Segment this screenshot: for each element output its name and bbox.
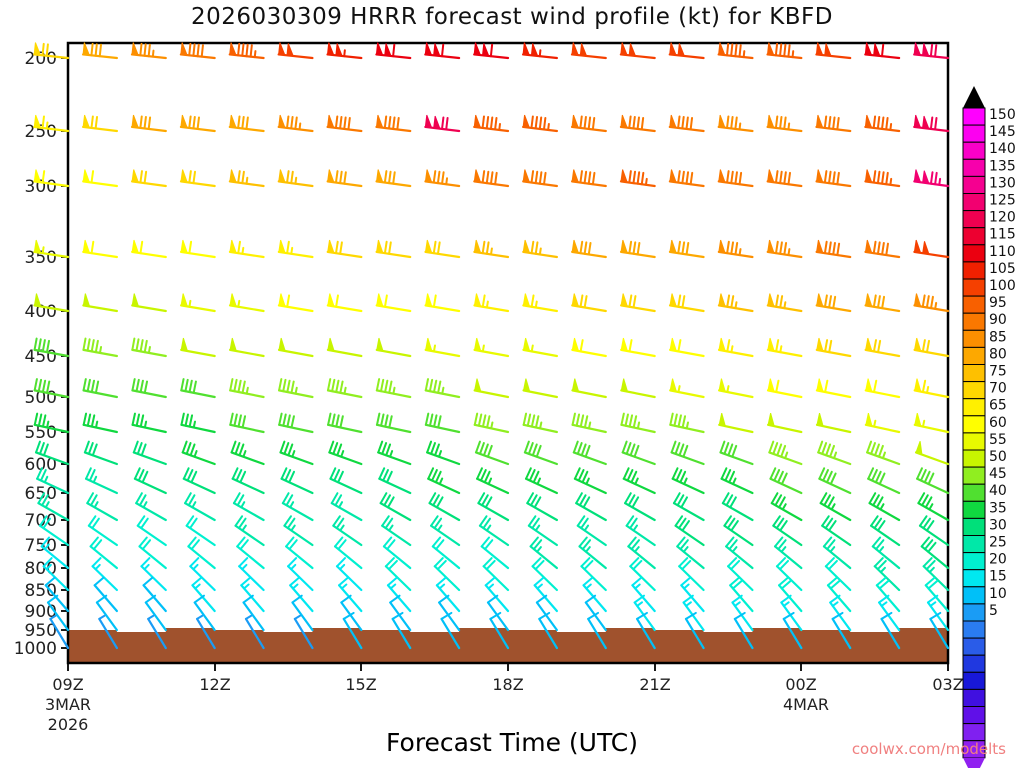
wind-barb <box>279 43 313 58</box>
wind-barb <box>572 294 606 311</box>
colorbar-tick-label: 35 <box>989 500 1007 516</box>
colorbar-swatch <box>963 330 985 347</box>
colorbar-swatch <box>963 604 985 621</box>
wind-barb <box>234 493 264 520</box>
wind-barb <box>181 43 215 58</box>
wind-barb <box>915 338 948 356</box>
wind-barb <box>719 43 753 58</box>
wind-barb <box>719 240 753 257</box>
wind-barb <box>719 294 753 311</box>
wind-barb <box>426 414 459 432</box>
x-axis-label: 00Z <box>785 675 816 694</box>
wind-barb <box>523 338 556 356</box>
wind-barb <box>865 115 899 131</box>
wind-barb <box>486 578 508 611</box>
wind-barb <box>376 43 410 58</box>
wind-barb <box>192 578 214 611</box>
colorbar-tick-label: 40 <box>989 483 1007 499</box>
wind-barb <box>525 442 557 464</box>
wind-barb <box>535 578 557 611</box>
wind-barb <box>181 115 215 131</box>
colorbar-tick-label: 135 <box>989 158 1016 174</box>
wind-barb <box>476 442 508 464</box>
wind-barb <box>279 379 312 397</box>
wind-barb <box>674 493 704 520</box>
wind-barb <box>865 170 899 186</box>
colorbar-tick-label: 25 <box>989 535 1007 551</box>
wind-barb <box>719 170 753 186</box>
wind-barb <box>333 516 361 545</box>
wind-barb <box>430 493 460 520</box>
wind-barb <box>918 493 948 520</box>
wind-barb <box>284 516 312 545</box>
colorbar-swatch <box>963 228 985 245</box>
colorbar-tick-label: 60 <box>989 415 1007 431</box>
wind-barb <box>230 294 264 311</box>
wind-barb <box>816 115 850 131</box>
wind-barb <box>670 240 704 257</box>
wind-barb <box>132 43 166 58</box>
wind-barb <box>670 338 703 356</box>
wind-barb <box>474 115 508 131</box>
wind-barb <box>332 493 362 520</box>
wind-barb <box>279 170 313 186</box>
wind-barb <box>915 413 948 432</box>
wind-barb <box>474 240 508 257</box>
wind-barb <box>817 413 850 432</box>
terrain-fill <box>68 628 948 663</box>
x-axis-label: 21Z <box>639 675 670 694</box>
colorbar-tick-label: 140 <box>989 141 1016 157</box>
wind-barb <box>768 379 801 397</box>
colorbar-swatch <box>963 245 985 262</box>
wind-barb <box>184 468 215 493</box>
wind-barb <box>779 578 801 611</box>
wind-barb <box>772 493 802 520</box>
colorbar-swatch <box>963 707 985 724</box>
wind-barb <box>477 468 508 493</box>
wind-barb <box>230 379 263 397</box>
wind-barb <box>670 379 703 397</box>
wind-barb <box>328 43 362 58</box>
wind-barb <box>870 493 900 520</box>
wind-barb <box>83 240 117 257</box>
wind-barb <box>474 43 508 58</box>
wind-barb <box>478 493 508 520</box>
wind-barb <box>627 516 655 545</box>
wind-barb <box>181 414 214 432</box>
wind-barb <box>377 379 410 397</box>
wind-barb <box>290 578 312 611</box>
wind-barb <box>183 442 215 464</box>
wind-barb <box>426 294 460 311</box>
colorbar-tick-label: 150 <box>989 107 1016 123</box>
wind-barb <box>817 379 850 397</box>
wind-barb <box>280 442 312 464</box>
wind-barb <box>523 170 557 186</box>
wind-barb <box>136 493 166 520</box>
wind-barb <box>181 338 214 356</box>
colorbar-swatch <box>963 108 985 125</box>
colorbar-tick-label: 75 <box>989 364 1007 380</box>
wind-barb <box>282 468 313 493</box>
wind-barb <box>328 115 362 131</box>
colorbar-swatch <box>963 570 985 587</box>
wind-barb <box>181 294 215 311</box>
wind-barb <box>817 294 851 311</box>
wind-barb <box>572 115 606 131</box>
wind-barb <box>523 294 557 311</box>
wind-barb <box>770 468 801 493</box>
wind-barb <box>914 170 948 186</box>
wind-barb <box>279 240 313 257</box>
wind-barb <box>132 294 166 311</box>
wind-barb <box>572 43 606 58</box>
x-axis-label: 09Z <box>52 675 83 694</box>
wind-barb <box>914 43 948 58</box>
wind-barb <box>865 240 899 257</box>
x-axis-date-start: 3MAR <box>45 695 91 714</box>
colorbar-swatch <box>963 433 985 450</box>
wind-barb <box>279 414 312 432</box>
wind-barb <box>425 115 459 131</box>
y-axis-label: 250 <box>25 122 57 142</box>
wind-barb <box>926 578 948 611</box>
colorbar-tick-label: 55 <box>989 432 1007 448</box>
wind-barb <box>572 379 605 397</box>
wind-barb <box>673 468 704 493</box>
wind-barb <box>818 442 850 464</box>
colorbar-tick-label: 30 <box>989 517 1007 533</box>
wind-barb <box>84 414 117 432</box>
colorbar-swatch <box>963 484 985 501</box>
wind-barb <box>914 115 948 131</box>
colorbar-swatch <box>963 621 985 638</box>
wind-barb <box>339 578 361 611</box>
wind-barb <box>377 240 411 257</box>
wind-barb <box>822 516 850 545</box>
wind-barb <box>133 414 166 432</box>
colorbar-tick-label: 20 <box>989 552 1007 568</box>
wind-barb <box>475 379 508 397</box>
wind-barb <box>624 468 655 493</box>
colorbar-tick-label: 95 <box>989 295 1007 311</box>
plot-canvas: 2002503003504004505005506006507007508008… <box>0 0 1024 768</box>
wind-barb <box>83 115 117 131</box>
wind-barb <box>670 294 704 311</box>
colorbar-swatch <box>963 159 985 176</box>
wind-barb <box>572 338 605 356</box>
wind-barb <box>132 240 166 257</box>
wind-barb <box>719 115 753 131</box>
wind-barb <box>877 578 899 611</box>
wind-barb <box>230 338 263 356</box>
wind-barb <box>377 170 411 186</box>
wind-barb <box>83 294 117 311</box>
colorbar-swatch <box>963 638 985 655</box>
wind-barb <box>817 240 851 257</box>
wind-barb <box>621 240 655 257</box>
wind-barb <box>425 240 459 257</box>
colorbar-swatch <box>963 279 985 296</box>
wind-barb <box>84 379 117 397</box>
wind-barb <box>95 578 117 611</box>
colorbar-tick-label: 50 <box>989 449 1007 465</box>
wind-barb <box>89 516 117 545</box>
y-axis-label: 700 <box>25 511 57 531</box>
wind-barb <box>670 115 704 131</box>
wind-barb <box>866 338 899 356</box>
colorbar-swatch <box>963 142 985 159</box>
wind-barb <box>87 493 117 520</box>
wind-barb <box>425 43 459 58</box>
wind-barb <box>425 170 459 186</box>
wind-barb <box>916 441 948 464</box>
wind-barb <box>769 442 801 464</box>
wind-barb <box>670 170 704 186</box>
colorbar-swatch <box>963 450 985 467</box>
wind-barb <box>83 43 117 58</box>
wind-barb <box>720 442 752 464</box>
wind-barb <box>529 516 557 545</box>
wind-barb <box>83 339 116 356</box>
colorbar-swatch <box>963 399 985 416</box>
colorbar-swatch <box>963 518 985 535</box>
colorbar-arrow-top <box>963 86 985 108</box>
wind-barb <box>773 516 801 545</box>
wind-barb <box>670 414 703 432</box>
wind-barb <box>676 516 704 545</box>
wind-barb <box>85 442 117 464</box>
colorbar-tick-label: 125 <box>989 193 1016 209</box>
colorbar-swatch <box>963 501 985 518</box>
wind-barb <box>670 43 704 58</box>
colorbar-tick-label: 15 <box>989 569 1007 585</box>
wind-barb <box>625 493 655 520</box>
wind-barb <box>230 115 264 131</box>
wind-barb <box>381 493 411 520</box>
colorbar-swatch <box>963 553 985 570</box>
colorbar-swatch <box>963 176 985 193</box>
wind-barb <box>574 442 606 464</box>
colorbar-swatch <box>963 536 985 553</box>
wind-barb <box>328 240 362 257</box>
y-axis-label: 400 <box>25 302 57 322</box>
y-axis-label: 950 <box>25 621 57 641</box>
wind-barb <box>632 578 654 611</box>
wind-barb <box>181 379 214 397</box>
wind-barb <box>135 468 166 493</box>
wind-barb <box>681 578 703 611</box>
wind-barb <box>474 170 508 186</box>
wind-barb <box>232 442 264 464</box>
colorbar-tick-label: 5 <box>989 603 998 619</box>
wind-barb <box>241 578 263 611</box>
wind-barb <box>821 493 851 520</box>
wind-barb <box>526 468 557 493</box>
wind-barb <box>378 442 410 464</box>
wind-barb <box>328 338 361 356</box>
colorbar-swatch <box>963 467 985 484</box>
wind-barb <box>474 294 508 311</box>
colorbar-tick-label: 115 <box>989 227 1016 243</box>
wind-barb <box>132 170 166 186</box>
colorbar-tick-label: 145 <box>989 124 1016 140</box>
wind-barb <box>431 516 459 545</box>
colorbar-swatch <box>963 672 985 689</box>
colorbar-tick-label: 80 <box>989 346 1007 362</box>
wind-barb <box>236 516 264 545</box>
wind-barb <box>187 516 215 545</box>
colorbar-tick-label: 65 <box>989 398 1007 414</box>
wind-barb <box>132 115 166 131</box>
wind-barb <box>181 170 215 186</box>
wind-barb <box>915 379 948 397</box>
wind-barb <box>576 493 606 520</box>
wind-barb <box>138 516 166 545</box>
colorbar-tick-label: 85 <box>989 329 1007 345</box>
wind-barb <box>868 468 899 493</box>
colorbar-swatch <box>963 416 985 433</box>
wind-barb <box>230 414 263 432</box>
wind-barb <box>621 379 654 397</box>
colorbar-tick-label: 120 <box>989 210 1016 226</box>
wind-barb <box>523 115 557 131</box>
wind-barb <box>584 578 606 611</box>
wind-barb <box>621 170 655 186</box>
wind-barb <box>867 442 899 464</box>
wind-barb <box>768 115 802 131</box>
wind-barb <box>377 414 410 432</box>
wind-barb <box>388 578 410 611</box>
wind-barb <box>914 240 948 257</box>
wind-barb <box>523 240 557 257</box>
wind-barb <box>329 442 361 464</box>
wind-barb <box>181 240 215 257</box>
colorbar-swatch <box>963 365 985 382</box>
wind-barb <box>328 294 362 311</box>
wind-barb <box>719 413 752 432</box>
wind-barb <box>475 338 508 356</box>
wind-barb <box>768 170 802 186</box>
wind-barb <box>524 414 557 432</box>
wind-barb <box>524 379 557 397</box>
wind-barb <box>672 442 704 464</box>
colorbar-swatch <box>963 125 985 142</box>
wind-barb <box>621 338 654 356</box>
wind-barb <box>621 294 655 311</box>
wind-barb <box>724 516 752 545</box>
wind-barb <box>480 516 508 545</box>
wind-barb <box>768 338 801 356</box>
wind-barb <box>866 379 899 397</box>
wind-barb <box>376 115 410 131</box>
wind-barb <box>572 170 606 186</box>
wind-barb <box>185 493 215 520</box>
colorbar-swatch <box>963 194 985 211</box>
wind-barb <box>233 468 264 493</box>
x-axis-date-next: 4MAR <box>783 695 829 714</box>
colorbar-swatch <box>963 296 985 313</box>
colorbar-swatch <box>963 587 985 604</box>
colorbar-tick-label: 100 <box>989 278 1016 294</box>
x-axis-label: 12Z <box>199 675 230 694</box>
colorbar-swatch <box>963 211 985 228</box>
wind-profile-chart: 2026030309 HRRR forecast wind profile (k… <box>0 0 1024 768</box>
wind-barb <box>379 468 410 493</box>
x-axis-label: 03Z <box>932 675 963 694</box>
wind-barb <box>230 43 264 58</box>
colorbar-tick-label: 130 <box>989 175 1016 191</box>
wind-barb <box>328 379 361 397</box>
wind-barb <box>523 43 557 58</box>
wind-barb <box>382 516 410 545</box>
wind-barb <box>428 468 459 493</box>
wind-barb <box>621 43 655 58</box>
wind-barb <box>426 338 459 356</box>
wind-barb <box>828 578 850 611</box>
x-axis-label: 15Z <box>345 675 376 694</box>
wind-barb <box>330 468 361 493</box>
wind-barb <box>621 414 654 432</box>
wind-barb <box>279 338 312 356</box>
wind-barb <box>475 414 508 432</box>
y-axis-label: 350 <box>25 248 57 268</box>
wind-barb <box>283 493 313 520</box>
x-axis-label: 18Z <box>492 675 523 694</box>
wind-barb <box>730 578 752 611</box>
wind-barb <box>917 468 948 493</box>
wind-barb <box>328 414 361 432</box>
wind-barb <box>83 170 117 186</box>
colorbar-tick-label: 110 <box>989 244 1016 260</box>
wind-barb <box>377 338 410 356</box>
wind-barb <box>914 294 948 311</box>
wind-barb <box>817 338 850 356</box>
wind-barb <box>132 339 165 356</box>
colorbar-tick-label: 70 <box>989 381 1007 397</box>
colorbar-arrow-bottom <box>963 758 985 768</box>
wind-barb <box>527 493 557 520</box>
colorbar-tick-label: 105 <box>989 261 1016 277</box>
wind-barb <box>866 294 900 311</box>
wind-barb <box>817 170 851 186</box>
wind-barb <box>230 240 264 257</box>
wind-barb <box>328 170 362 186</box>
wind-barb <box>819 468 850 493</box>
wind-barb <box>134 442 166 464</box>
wind-barb <box>920 516 948 545</box>
wind-barb <box>722 468 753 493</box>
colorbar-swatch <box>963 382 985 399</box>
colorbar-swatch <box>963 262 985 279</box>
wind-barb <box>279 115 313 131</box>
wind-barb <box>427 442 459 464</box>
wind-barb <box>621 115 655 131</box>
wind-barb <box>144 578 166 611</box>
colorbar-tick-label: 45 <box>989 466 1007 482</box>
y-axis-label: 1000 <box>14 639 57 659</box>
wind-barb <box>377 294 411 311</box>
wind-barb <box>623 442 655 464</box>
wind-barb <box>865 43 899 58</box>
colorbar-tick-label: 10 <box>989 586 1007 602</box>
wind-barb <box>816 43 850 58</box>
wind-barb <box>279 294 313 311</box>
wind-barb <box>132 379 165 397</box>
colorbar-swatch <box>963 313 985 330</box>
wind-barb <box>572 240 606 257</box>
